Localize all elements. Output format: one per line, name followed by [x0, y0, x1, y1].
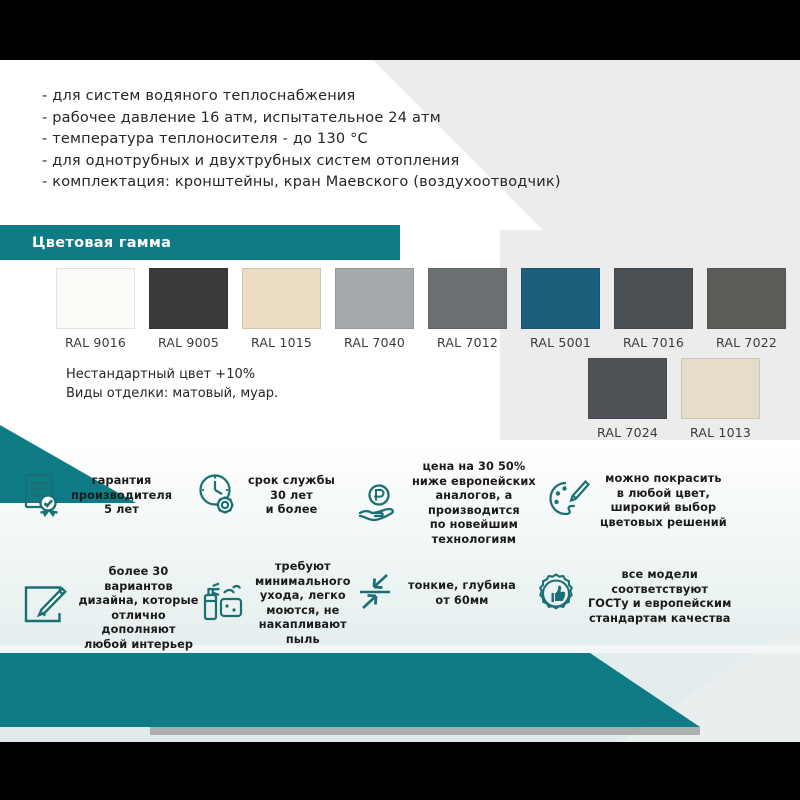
- feature-text-line: срок службы: [248, 474, 335, 489]
- ral-swatch[interactable]: RAL 7022: [707, 268, 786, 350]
- ral-swatch-row-1: RAL 9016RAL 9005RAL 1015RAL 7040RAL 7012…: [56, 268, 800, 358]
- spec-bullet-list: - для систем водяного теплоснабжения - р…: [42, 86, 561, 194]
- compress-arrows-icon: [357, 572, 399, 616]
- feature-text-line: аналогов, а: [412, 489, 536, 504]
- feature-text-line: 5 лет: [71, 503, 172, 518]
- color-notes: Нестандартный цвет +10% Виды отделки: ма…: [66, 365, 278, 403]
- ral-swatch[interactable]: RAL 7024: [588, 358, 667, 440]
- feature-text-line: требуют: [255, 560, 351, 575]
- ral-swatch[interactable]: RAL 9016: [56, 268, 135, 350]
- feature-standards: все моделисоответствуютГОСТу и европейск…: [533, 568, 789, 626]
- feature-text: можно покраситьв любой цвет,широкий выбо…: [600, 472, 727, 530]
- ral-swatch[interactable]: RAL 5001: [521, 268, 600, 350]
- feature-text-line: пыль: [255, 633, 351, 648]
- feature-designs: более 30вариантовдизайна, которыеотлично…: [22, 565, 202, 653]
- ral-swatch[interactable]: RAL 9005: [149, 268, 228, 350]
- ral-swatch-chip: [681, 358, 760, 419]
- spec-bullet: - температура теплоносителя - до 130 °C: [42, 129, 561, 151]
- feature-text-line: можно покрасить: [600, 472, 727, 487]
- ral-swatch-label: RAL 5001: [521, 335, 600, 350]
- spec-bullet: - комплектация: кронштейны, кран Маевско…: [42, 172, 561, 194]
- ral-swatch[interactable]: RAL 7040: [335, 268, 414, 350]
- feature-easy-care: требуютминимальногоухода, легкомоются, н…: [200, 560, 368, 648]
- feature-text-line: производится: [412, 504, 536, 519]
- feature-text: цена на 30 50%ниже европейскиханалогов, …: [412, 460, 536, 548]
- ral-swatch-chip: [588, 358, 667, 419]
- palette-brush-icon: [547, 477, 591, 525]
- feature-text-line: отлично дополняют: [75, 609, 202, 638]
- certificate-icon: [22, 472, 62, 520]
- feature-price: цена на 30 50%ниже европейскиханалогов, …: [357, 460, 547, 548]
- feature-slim-depth: тонкие, глубинаот 60мм: [357, 572, 532, 616]
- feature-text-line: дизайна, которые: [75, 594, 202, 609]
- ral-swatch-label: RAL 1015: [242, 335, 321, 350]
- feature-text-line: стандартам качества: [588, 612, 731, 627]
- ral-swatch-chip: [149, 268, 228, 329]
- feature-text-line: цветовых решений: [600, 516, 727, 531]
- spec-bullet: - рабочее давление 16 атм, испытательное…: [42, 108, 561, 130]
- feature-text-line: соответствуют: [588, 583, 731, 598]
- feature-text-line: производителя: [71, 489, 172, 504]
- color-note: Виды отделки: матовый, муар.: [66, 384, 278, 403]
- ral-swatch[interactable]: RAL 7016: [614, 268, 693, 350]
- ral-swatch-row-2: RAL 7024RAL 1013: [588, 358, 800, 448]
- pencil-design-icon: [22, 585, 66, 633]
- ral-swatch-label: RAL 9016: [56, 335, 135, 350]
- feature-text-line: более 30: [75, 565, 202, 580]
- thumbs-up-badge-icon: [533, 572, 579, 622]
- feature-text: тонкие, глубинаот 60мм: [408, 579, 516, 608]
- ral-swatch[interactable]: RAL 1015: [242, 268, 321, 350]
- ral-swatch[interactable]: RAL 7012: [428, 268, 507, 350]
- feature-text-line: любой интерьер: [75, 638, 202, 653]
- color-gamut-title: Цветовая гамма: [32, 235, 171, 251]
- ral-swatch-label: RAL 7012: [428, 335, 507, 350]
- slide-canvas: - для систем водяного теплоснабжения - р…: [0, 60, 800, 742]
- feature-text: все моделисоответствуютГОСТу и европейск…: [588, 568, 731, 626]
- feature-text-line: гарантия: [71, 474, 172, 489]
- ral-swatch-label: RAL 7016: [614, 335, 693, 350]
- ral-swatch-label: RAL 9005: [149, 335, 228, 350]
- ral-swatch-chip: [56, 268, 135, 329]
- ral-swatch-label: RAL 7024: [588, 425, 667, 440]
- feature-text-line: ухода, легко: [255, 589, 351, 604]
- ral-swatch-chip: [707, 268, 786, 329]
- ral-swatch-label: RAL 7022: [707, 335, 786, 350]
- feature-text-line: в любой цвет,: [600, 487, 727, 502]
- feature-text-line: технологиям: [412, 533, 536, 548]
- ral-swatch-chip: [428, 268, 507, 329]
- feature-text-line: вариантов: [75, 580, 202, 595]
- feature-service-life: срок службы30 лети более: [197, 472, 357, 520]
- feature-text: гарантияпроизводителя5 лет: [71, 474, 172, 518]
- feature-text: срок службы30 лети более: [248, 474, 335, 518]
- feature-text-line: ГОСТу и европейским: [588, 597, 731, 612]
- feature-text-line: моются, не: [255, 604, 351, 619]
- ral-swatch-chip: [614, 268, 693, 329]
- spec-bullet: - для систем водяного теплоснабжения: [42, 86, 561, 108]
- spray-cleaning-icon: [200, 579, 246, 629]
- feature-paintable: можно покраситьв любой цвет,широкий выбо…: [547, 472, 787, 530]
- feature-text-line: по новейшим: [412, 518, 536, 533]
- color-gamut-banner: Цветовая гамма: [0, 225, 400, 260]
- feature-text-line: цена на 30 50%: [412, 460, 536, 475]
- decorative-band-bottom: [0, 645, 800, 742]
- ral-swatch[interactable]: RAL 1013: [681, 358, 760, 440]
- feature-text-line: ниже европейских: [412, 475, 536, 490]
- feature-text-line: тонкие, глубина: [408, 579, 516, 594]
- feature-text-line: все модели: [588, 568, 731, 583]
- hand-ruble-icon: [357, 482, 403, 526]
- feature-warranty: гарантияпроизводителя5 лет: [22, 472, 197, 520]
- ral-swatch-label: RAL 1013: [681, 425, 760, 440]
- ral-swatch-chip: [242, 268, 321, 329]
- feature-text-line: широкий выбор: [600, 501, 727, 516]
- clock-gear-icon: [197, 472, 239, 520]
- feature-text-line: и более: [248, 503, 335, 518]
- feature-text: требуютминимальногоухода, легкомоются, н…: [255, 560, 351, 648]
- spec-bullet: - для однотрубных и двухтрубных систем о…: [42, 151, 561, 173]
- feature-text: более 30вариантовдизайна, которыеотлично…: [75, 565, 202, 653]
- feature-text-line: накапливают: [255, 618, 351, 633]
- ral-swatch-label: RAL 7040: [335, 335, 414, 350]
- feature-text-line: 30 лет: [248, 489, 335, 504]
- color-note: Нестандартный цвет +10%: [66, 365, 278, 384]
- ral-swatch-chip: [335, 268, 414, 329]
- ral-swatch-chip: [521, 268, 600, 329]
- feature-text-line: от 60мм: [408, 594, 516, 609]
- feature-text-line: минимального: [255, 575, 351, 590]
